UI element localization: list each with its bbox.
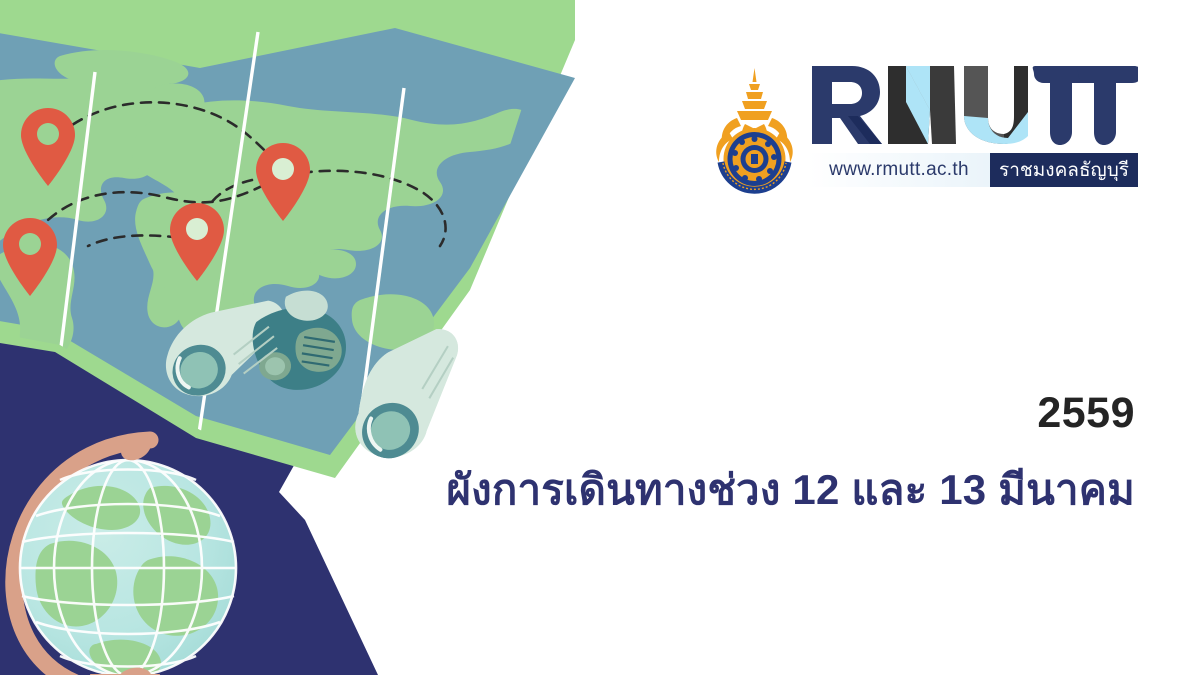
letter-U	[964, 66, 1028, 144]
page-title: ผังการเดินทางช่วง 12 และ 13 มีนาคม	[446, 466, 1135, 514]
rmutt-logo: www.rmutt.ac.th ราชมงคลธัญบุรี	[707, 62, 1137, 210]
rmutt-url-text: www.rmutt.ac.th	[808, 153, 990, 187]
slide-canvas: www.rmutt.ac.th ราชมงคลธัญบุรี 2559 ผังก…	[0, 0, 1200, 675]
letter-T-second	[1077, 66, 1138, 145]
rmutt-wordmark: www.rmutt.ac.th ราชมงคลธัญบุรี	[808, 62, 1138, 187]
rmutt-url-bar: www.rmutt.ac.th ราชมงคลธัญบุรี	[808, 153, 1138, 187]
letter-R	[812, 66, 882, 144]
rmutt-seal-icon	[707, 62, 802, 210]
rmutt-thai-name-badge: ราชมงคลธัญบุรี	[990, 153, 1138, 187]
letter-M	[888, 66, 956, 144]
year-label: 2559	[1037, 392, 1135, 435]
rmutt-letters-icon	[808, 62, 1138, 148]
